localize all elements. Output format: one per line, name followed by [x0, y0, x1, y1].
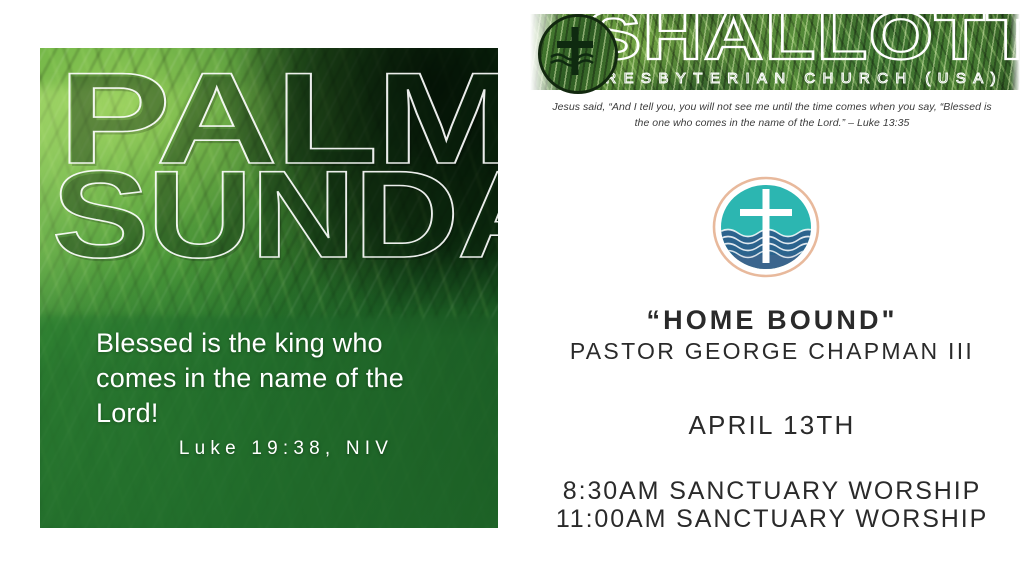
palm-sunday-headline: PALM SUNDAY — [40, 66, 498, 265]
headline-line-sunday: SUNDAY — [40, 166, 498, 265]
palm-sunday-graphic: PALM SUNDAY Blessed is the king who come… — [40, 48, 498, 528]
logo-inner-scene — [712, 173, 820, 281]
pastor-name: PASTOR GEORGE CHAPMAN III — [520, 338, 1024, 365]
announcement-details-panel: SHALLOTTE PRESBYTERIAN CHURCH (USA) Jesu… — [520, 0, 1024, 576]
masthead-top-mask — [530, 8, 1020, 14]
church-round-logo — [712, 173, 820, 281]
service-time-2: 11:00AM SANCTUARY WORSHIP — [520, 505, 1024, 534]
church-masthead: SHALLOTTE PRESBYTERIAN CHURCH (USA) — [530, 8, 1020, 94]
cross-over-water-emblem-icon — [538, 14, 618, 94]
service-time-1: 8:30AM SANCTUARY WORSHIP — [520, 477, 1024, 506]
masthead-bottom-mask — [530, 90, 1020, 94]
sermon-title: “HOME BOUND" — [520, 305, 1024, 336]
service-date: APRIL 13TH — [520, 410, 1024, 441]
palm-verse-text: Blessed is the king who comes in the nam… — [96, 326, 456, 431]
masthead-scripture-text: Jesus said, “And I tell you, you will no… — [544, 99, 1000, 132]
emblem-cross-icon — [541, 17, 609, 85]
palm-verse-reference: Luke 19:38, NIV — [96, 438, 476, 460]
worship-announcement-slide: PALM SUNDAY Blessed is the king who come… — [0, 0, 1024, 576]
